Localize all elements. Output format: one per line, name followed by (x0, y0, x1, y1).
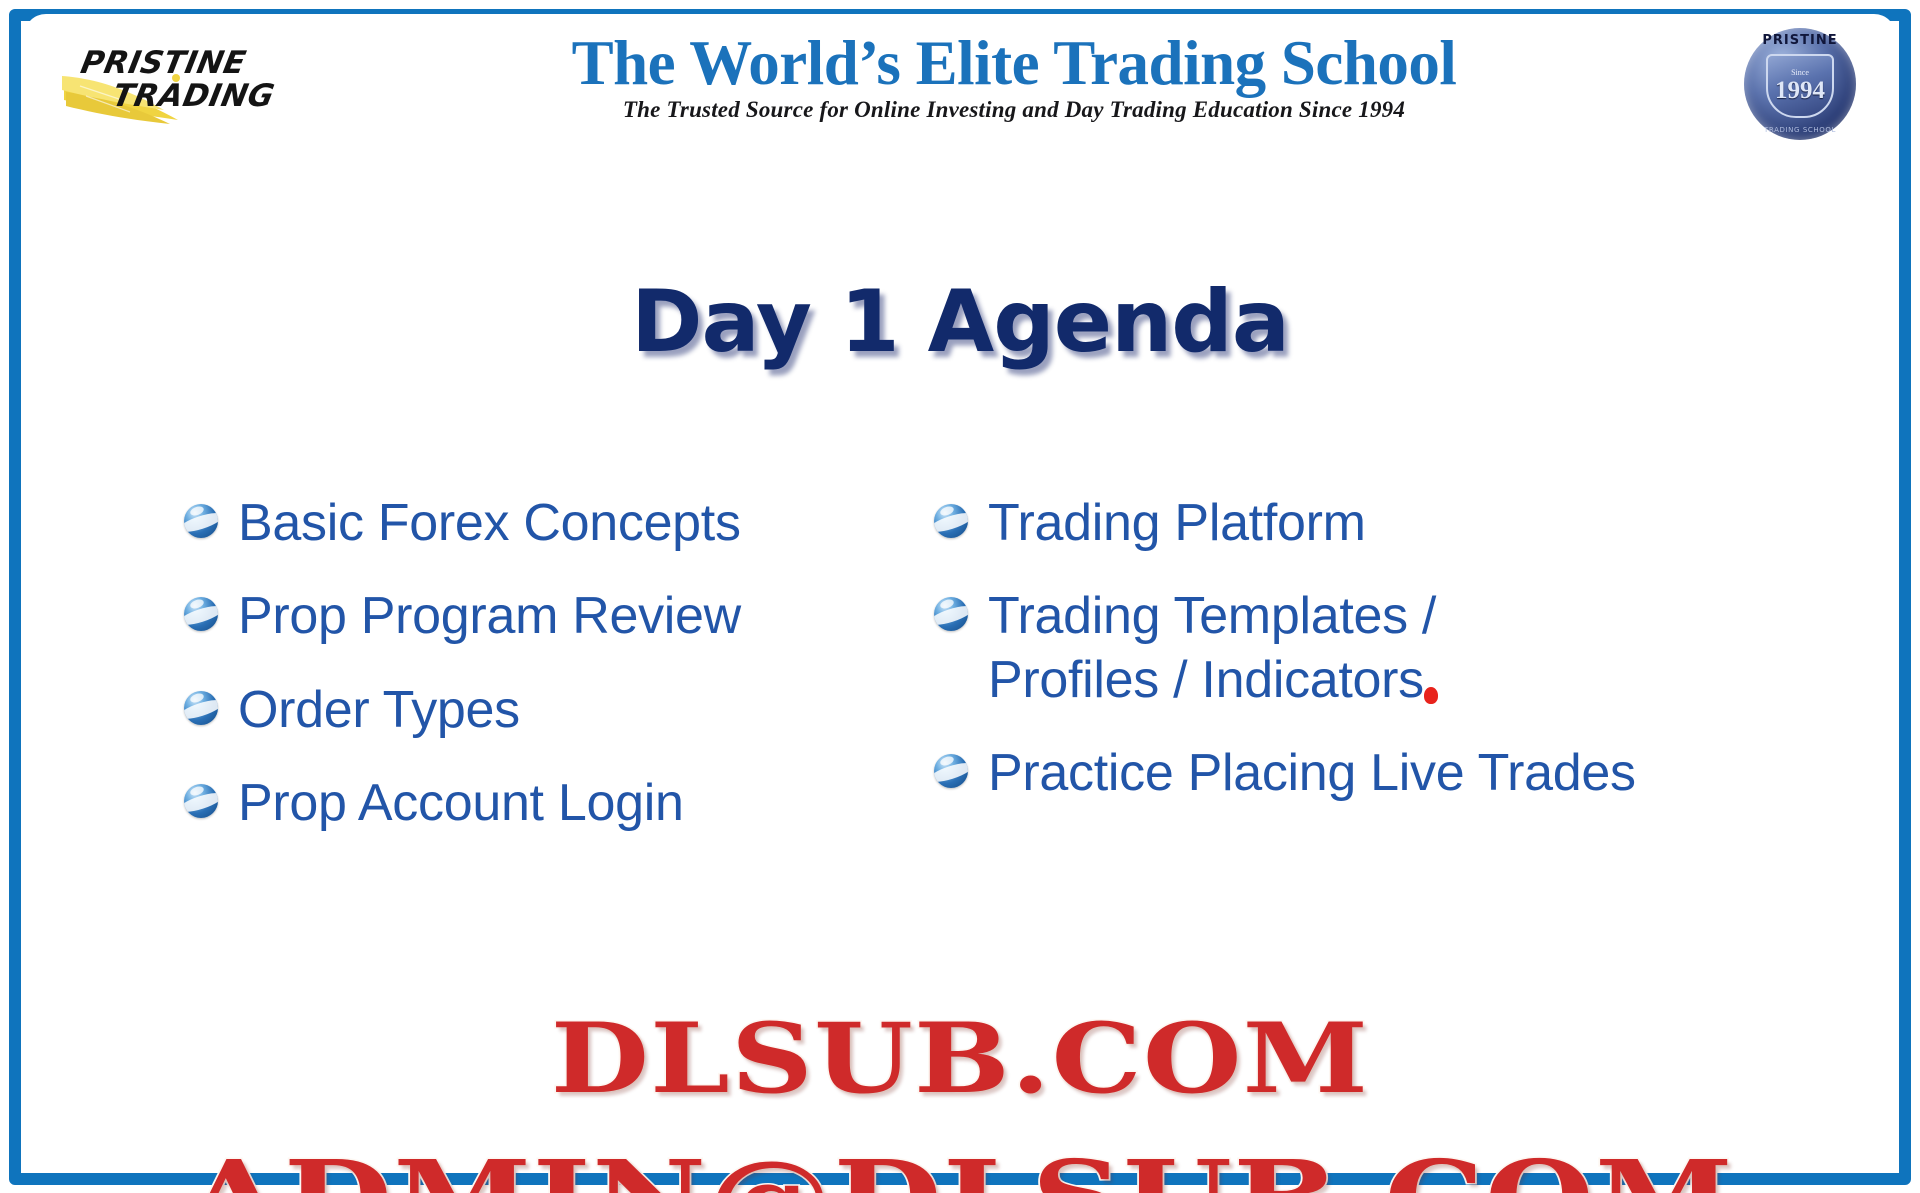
header-subtitle: The Trusted Source for Online Investing … (354, 97, 1674, 123)
list-item-label: Practice Placing Live Trades (988, 742, 1636, 805)
globe-icon (184, 784, 218, 818)
header-text-block: The World’s Elite Trading School The Tru… (354, 28, 1674, 123)
globe-icon (184, 504, 218, 538)
globe-icon (934, 754, 968, 788)
header-title: The World’s Elite Trading School (354, 28, 1674, 99)
logo-line-2: TRADING (110, 81, 340, 112)
list-item-label: Basic Forex Concepts (238, 492, 741, 555)
slide-body: Day 1 Agenda Basic Forex Concepts Prop P… (24, 152, 1896, 1172)
slide-canvas: PRISTINE TRADING The World’s Elite Tradi… (0, 0, 1920, 1193)
list-item-label: Prop Program Review (238, 585, 741, 648)
agenda-column-left: Basic Forex Concepts Prop Program Review… (24, 492, 794, 866)
list-item-label: Trading Templates / Profiles / Indicator… (988, 585, 1436, 712)
list-item: Basic Forex Concepts (184, 492, 794, 555)
list-item: Order Types (184, 679, 794, 742)
seal-year: 1994 (1775, 78, 1825, 103)
globe-icon (934, 504, 968, 538)
agenda-columns: Basic Forex Concepts Prop Program Review… (24, 492, 1896, 866)
list-item-label: Trading Platform (988, 492, 1366, 555)
list-item: Practice Placing Live Trades (934, 742, 1894, 805)
mouse-cursor-dot (1424, 687, 1438, 704)
list-item-label: Order Types (238, 679, 520, 742)
globe-icon (184, 597, 218, 631)
watermark-site: DLSUB.COM (0, 1002, 1920, 1115)
header-bar: PRISTINE TRADING The World’s Elite Tradi… (24, 14, 1896, 148)
pristine-seal-logo: PRISTINE Since 1994 TRADING SCHOOL (1744, 28, 1856, 140)
pristine-wordmark: PRISTINE TRADING (72, 48, 346, 112)
globe-icon (934, 597, 968, 631)
seal-arc-text: PRISTINE (1744, 33, 1856, 48)
pristine-trading-logo: PRISTINE TRADING (52, 30, 342, 134)
seal-since-label: Since (1791, 69, 1809, 77)
watermark-email: ADMIN@DLSUB.COM (0, 1137, 1920, 1193)
list-item: Prop Account Login (184, 772, 794, 835)
list-item-label: Prop Account Login (238, 772, 684, 835)
page-title: Day 1 Agenda (24, 272, 1896, 372)
list-item: Trading Templates / Profiles / Indicator… (934, 585, 1894, 712)
list-item: Trading Platform (934, 492, 1894, 555)
agenda-column-right: Trading Platform Trading Templates / Pro… (794, 492, 1894, 866)
seal-bottom-text: TRADING SCHOOL (1744, 126, 1856, 134)
logo-line-1: PRISTINE (78, 48, 346, 79)
list-item: Prop Program Review (184, 585, 794, 648)
seal-shield: Since 1994 (1766, 54, 1834, 118)
globe-icon (184, 691, 218, 725)
